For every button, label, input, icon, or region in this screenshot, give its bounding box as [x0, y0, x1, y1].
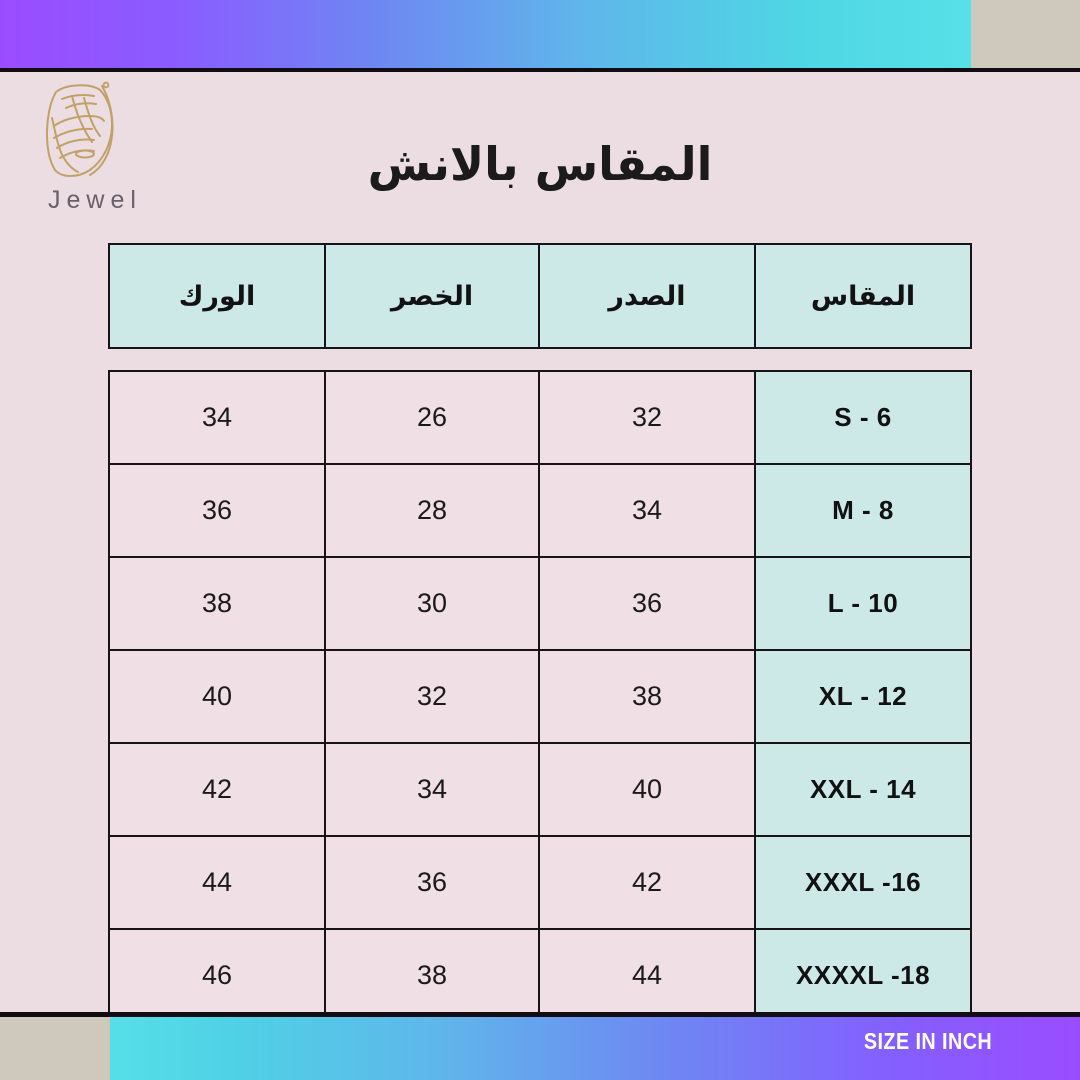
table-row: XXL - 14 40 34 42	[109, 743, 971, 836]
cell-chest: 42	[539, 836, 755, 929]
cell-hip: 40	[109, 650, 325, 743]
size-chart-page: Jewel المقاس بالانش المقاس الصدر الخصر ا…	[0, 0, 1080, 1080]
cell-chest: 44	[539, 929, 755, 1022]
cell-chest: 36	[539, 557, 755, 650]
cell-hip: 42	[109, 743, 325, 836]
top-right-beige-block	[971, 0, 1080, 68]
table-row: XXXL -16 42 36 44	[109, 836, 971, 929]
cell-size: M - 8	[755, 464, 971, 557]
cell-waist: 28	[325, 464, 539, 557]
table-header-row: المقاس الصدر الخصر الورك	[109, 244, 971, 348]
footer-label: SIZE IN INCH	[864, 1028, 992, 1055]
cell-hip: 46	[109, 929, 325, 1022]
cell-waist: 34	[325, 743, 539, 836]
cell-hip: 36	[109, 464, 325, 557]
page-title: المقاس بالانش	[0, 137, 1080, 191]
size-chart-body-table: S - 6 32 26 34 M - 8 34 28 36 L - 10 36 …	[108, 370, 972, 1023]
bottom-left-beige-block	[0, 1017, 110, 1080]
column-header-chest: الصدر	[539, 244, 755, 348]
table-row: S - 6 32 26 34	[109, 371, 971, 464]
cell-hip: 44	[109, 836, 325, 929]
cell-size: XXXXL -18	[755, 929, 971, 1022]
cell-size: S - 6	[755, 371, 971, 464]
cell-chest: 40	[539, 743, 755, 836]
table-row: M - 8 34 28 36	[109, 464, 971, 557]
cell-size: XXXL -16	[755, 836, 971, 929]
cell-waist: 32	[325, 650, 539, 743]
column-header-size: المقاس	[755, 244, 971, 348]
table-row: L - 10 36 30 38	[109, 557, 971, 650]
cell-waist: 26	[325, 371, 539, 464]
cell-size: XXL - 14	[755, 743, 971, 836]
cell-waist: 36	[325, 836, 539, 929]
cell-waist: 30	[325, 557, 539, 650]
table-row: XL - 12 38 32 40	[109, 650, 971, 743]
cell-chest: 32	[539, 371, 755, 464]
table-row: XXXXL -18 44 38 46	[109, 929, 971, 1022]
cell-chest: 34	[539, 464, 755, 557]
column-header-hip: الورك	[109, 244, 325, 348]
cell-size: L - 10	[755, 557, 971, 650]
cell-hip: 38	[109, 557, 325, 650]
cell-chest: 38	[539, 650, 755, 743]
size-chart-header-table: المقاس الصدر الخصر الورك	[108, 243, 972, 349]
top-gradient-band	[0, 0, 971, 68]
cell-size: XL - 12	[755, 650, 971, 743]
column-header-waist: الخصر	[325, 244, 539, 348]
cell-waist: 38	[325, 929, 539, 1022]
cell-hip: 34	[109, 371, 325, 464]
